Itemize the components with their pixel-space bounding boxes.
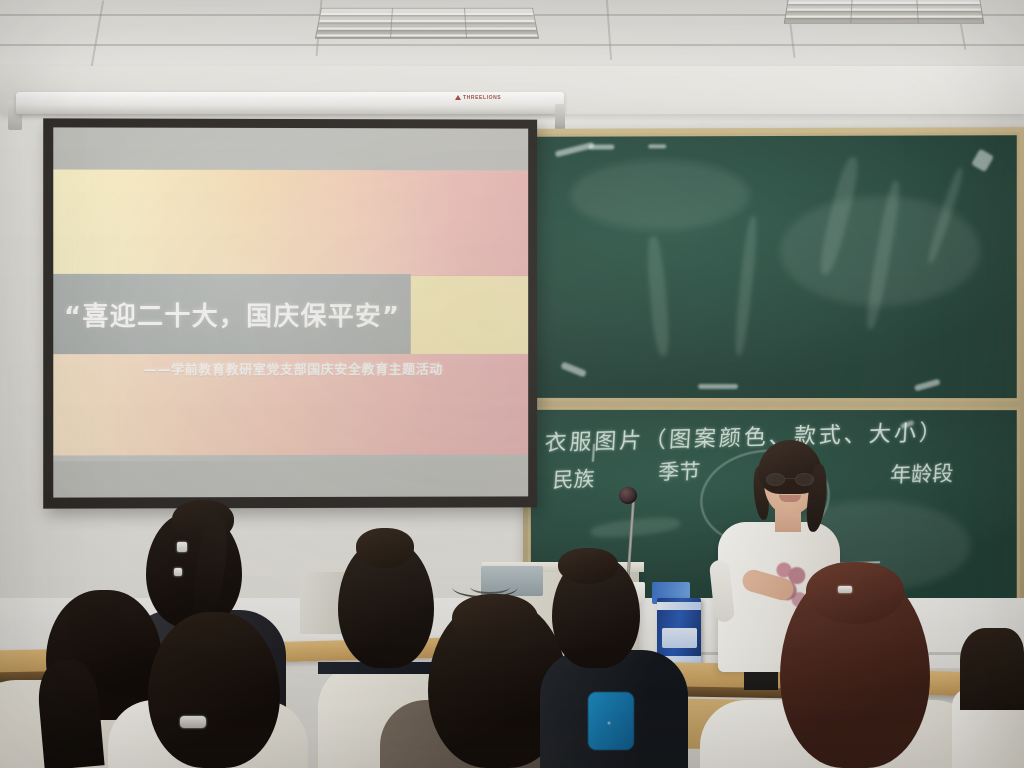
chalk-tray [531,398,1017,401]
chalkboard-term-minzu: 民族 [552,463,596,494]
classroom-photo: THREELIONS 衣服图片（图案颜色、款式、大小） 民族 [0,0,1024,768]
slide-subtitle: ——学前教育教研室党支部国庆安全教育主题活动 [144,359,528,378]
student-hair-bun [558,548,618,584]
chalkboard-term-nianlingduan: 年龄段 [889,457,954,489]
student-8-head [960,628,1024,710]
screen-brand-logo: THREELIONS [455,95,501,101]
hair-clip [177,542,187,552]
cable [470,580,510,594]
slide-accent-block [391,276,528,354]
hair-clip [174,568,182,576]
shirt-print-detail [598,712,620,734]
presentation-slide: “喜迎二十大，国庆保平安” ——学前教育教研室党支部国庆安全教育主题活动 [53,127,528,497]
teacher-mouth [779,495,801,502]
brand-label: THREELIONS [463,95,501,101]
chalkboard-upper-panel [528,132,1020,401]
slide-band-gradient [53,170,528,276]
chalkboard-line-1: 衣服图片（图案颜色、款式、大小） [544,414,945,457]
slide-band-top [53,127,528,170]
screen-bracket-right [555,104,565,130]
ceiling-light-fixture [315,8,539,39]
chalkboard-term-jijie: 季节 [657,456,701,487]
eyeglasses-icon [766,473,814,486]
hair-clip [180,716,206,728]
student-head [148,612,280,768]
student-ponytail [806,562,904,624]
slide-title: “喜迎二十大，国庆保平安” [53,276,411,352]
ceiling-light-fixture [784,0,985,24]
student-ponytail [452,594,538,646]
projection-screen: “喜迎二十大，国庆保平安” ——学前教育教研室党支部国庆安全教育主题活动 [43,118,537,508]
microphone-icon [619,487,637,504]
hair-clip [838,586,852,593]
slide-band-bottom [53,461,528,498]
student-hair-bun [356,528,414,568]
